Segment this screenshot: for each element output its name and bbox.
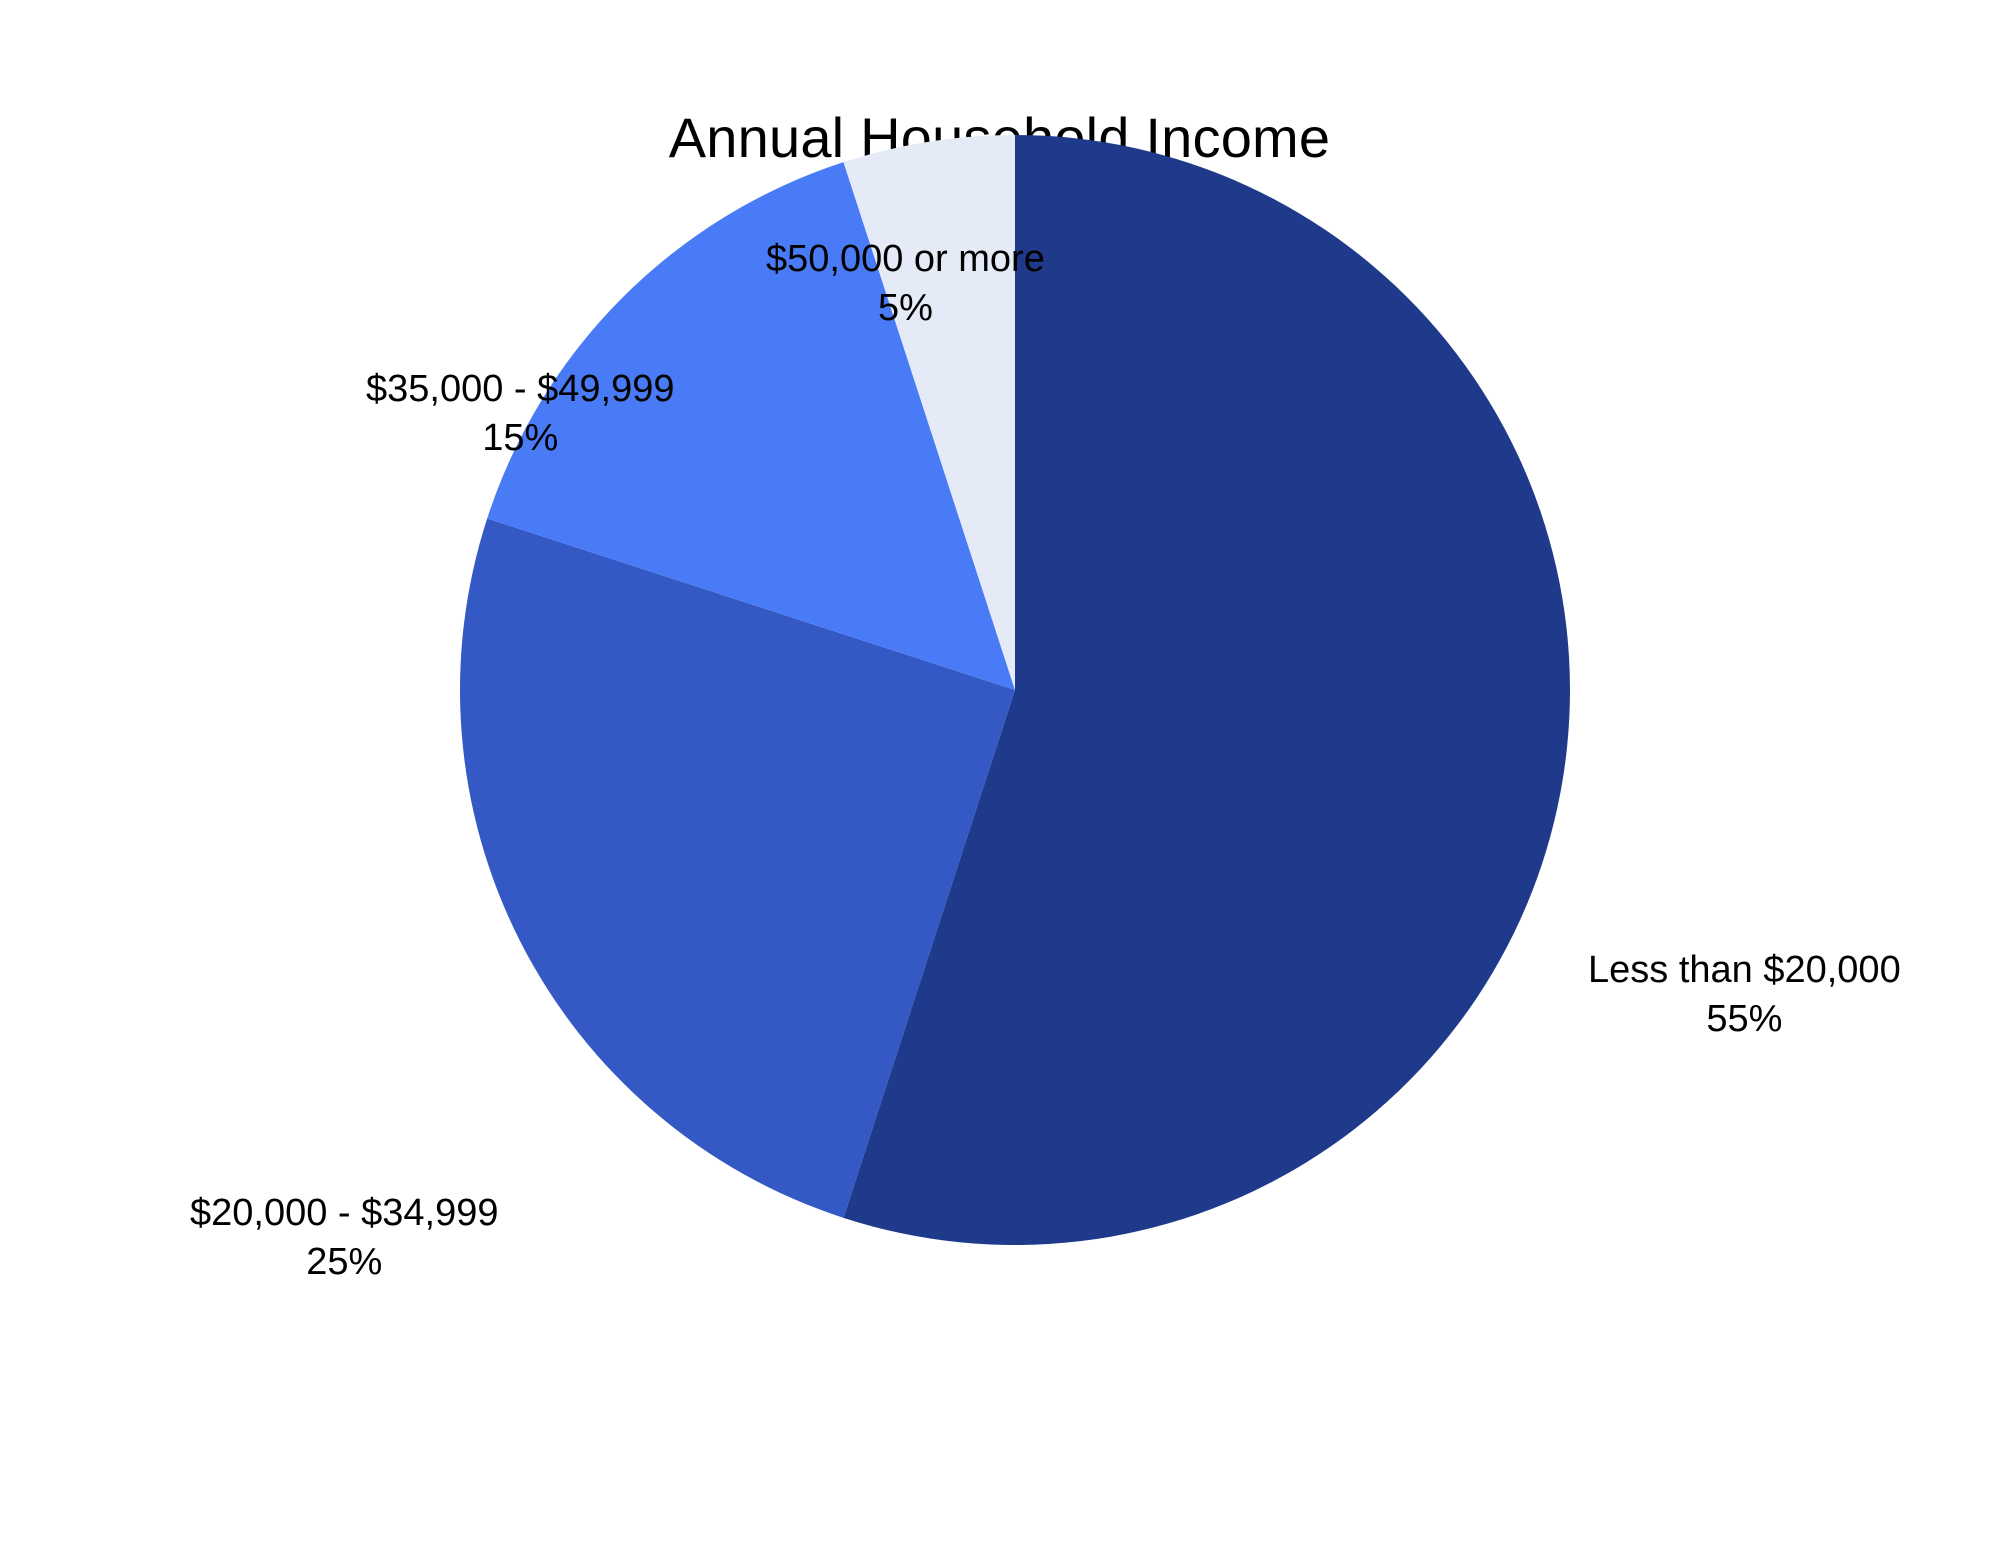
- slice-label-20000-34999: $20,000 - $34,999 25%: [190, 1189, 499, 1286]
- slice-label-percent: 5%: [766, 284, 1045, 333]
- slice-label-percent: 15%: [366, 414, 675, 463]
- slice-label-35000-49999: $35,000 - $49,999 15%: [366, 365, 675, 462]
- slice-label-name: $20,000 - $34,999: [190, 1189, 499, 1238]
- slice-label-name: $50,000 or more: [766, 235, 1045, 284]
- slice-label-name: Less than $20,000: [1588, 946, 1901, 995]
- slice-label-percent: 55%: [1588, 995, 1901, 1044]
- slice-label-50000-or-more: $50,000 or more 5%: [766, 235, 1045, 332]
- pie-chart-graphic: [0, 0, 1999, 1545]
- pie-chart-figure: Annual Household Income Less than $20,00…: [0, 0, 1999, 1545]
- slice-label-name: $35,000 - $49,999: [366, 365, 675, 414]
- slice-label-percent: 25%: [190, 1238, 499, 1287]
- slice-label-less-than-20000: Less than $20,000 55%: [1588, 946, 1901, 1043]
